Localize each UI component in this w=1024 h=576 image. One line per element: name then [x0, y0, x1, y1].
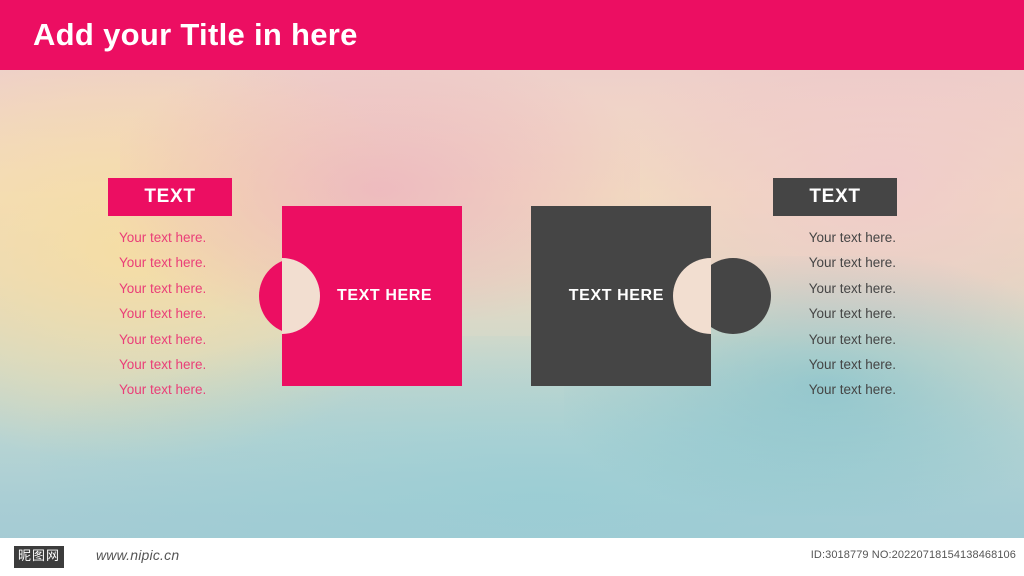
slide-canvas: Add your Title in here TEXT Your text he… [0, 0, 1024, 576]
right-square-label: TEXT HERE [524, 287, 664, 305]
list-item: Your text here. [700, 276, 896, 301]
list-item: Your text here. [700, 250, 896, 275]
left-square-label: TEXT HERE [337, 287, 477, 305]
right-tag-badge: TEXT [773, 178, 897, 216]
site-url[interactable]: www.nipic.cn [96, 547, 179, 563]
left-tag-badge: TEXT [108, 178, 232, 216]
list-item: Your text here. [700, 377, 896, 402]
site-logo: 昵图网 [14, 546, 64, 568]
footer-bar: 昵图网 www.nipic.cn ID:3018779 NO:202207181… [0, 538, 1024, 576]
left-notch-fill [282, 258, 320, 334]
right-text-list: Your text here. Your text here. Your tex… [700, 225, 896, 403]
list-item: Your text here. [119, 225, 299, 250]
list-item: Your text here. [700, 352, 896, 377]
list-item: Your text here. [700, 327, 896, 352]
page-title: Add your Title in here [33, 15, 358, 55]
left-circle-notch [282, 258, 320, 334]
list-item: Your text here. [119, 352, 299, 377]
asset-id-text: ID:3018779 NO:20220718154138468106 [811, 549, 1016, 561]
list-item: Your text here. [700, 225, 896, 250]
title-bar: Add your Title in here [0, 0, 1024, 70]
list-item: Your text here. [700, 301, 896, 326]
list-item: Your text here. [119, 377, 299, 402]
